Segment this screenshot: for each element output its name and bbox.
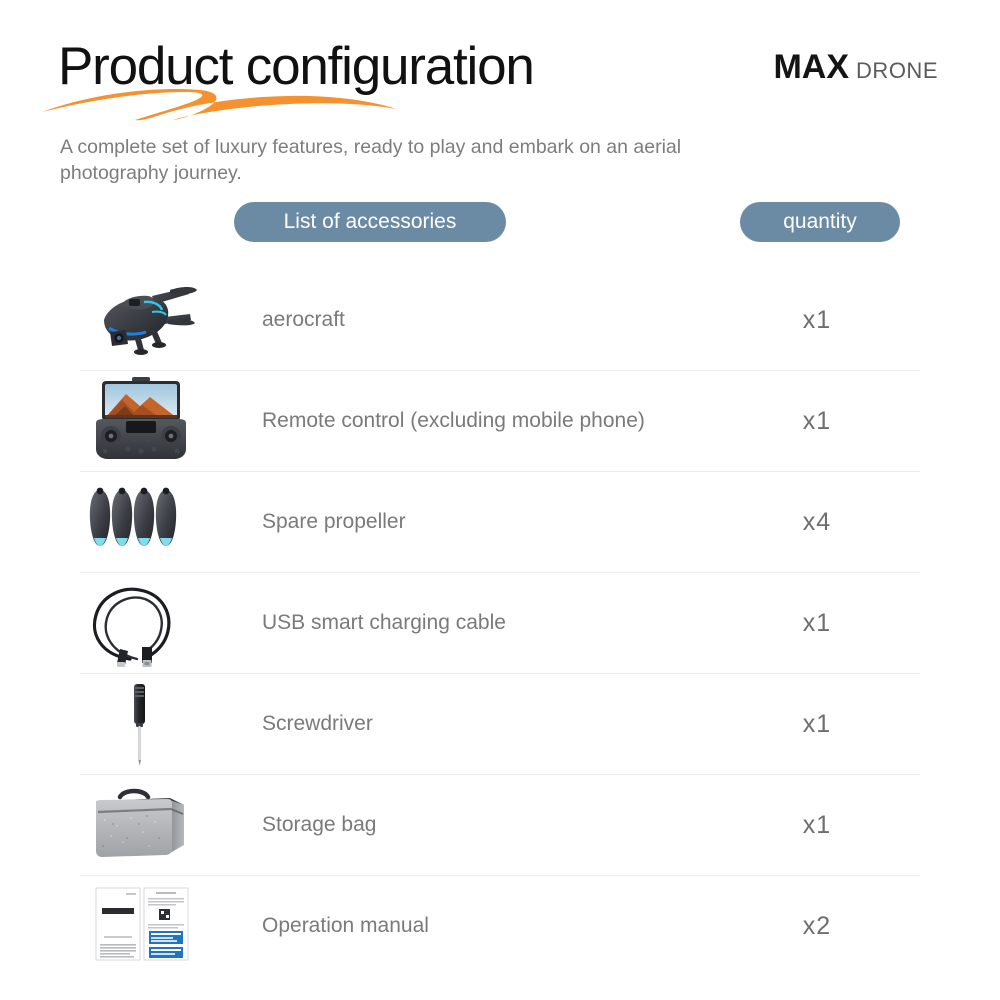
accessory-label: Remote control (excluding mobile phone) (202, 409, 742, 433)
accessory-quantity: x1 (742, 710, 920, 739)
logo-secondary-text: DRONE (856, 58, 938, 84)
table-row: Storage bag x1 (80, 775, 920, 876)
storage-bag-icon (82, 779, 202, 871)
accessory-quantity: x1 (742, 407, 920, 436)
column-header-accessories: List of accessories (234, 202, 506, 242)
propeller-icon (82, 476, 202, 568)
page-header: Product configuration MAX DRONE A comple… (0, 0, 1000, 200)
table-row: Operation manual x2 (80, 876, 920, 976)
page-subtitle: A complete set of luxury features, ready… (60, 134, 790, 186)
accessory-quantity: x4 (742, 508, 920, 537)
table-row: Screwdriver x1 (80, 674, 920, 775)
accessory-quantity: x1 (742, 811, 920, 840)
column-header-quantity: quantity (740, 202, 900, 242)
table-row: aerocraft x1 (80, 270, 920, 371)
usb-cable-icon (82, 577, 202, 669)
table-header: List of accessories quantity (0, 200, 1000, 262)
table-row: USB smart charging cable x1 (80, 573, 920, 674)
brand-logo: MAX DRONE (773, 48, 938, 87)
accessory-label: Storage bag (202, 813, 742, 837)
logo-primary-text: MAX (773, 48, 849, 87)
accessory-label: USB smart charging cable (202, 611, 742, 635)
accessory-quantity: x1 (742, 306, 920, 335)
accessory-label: Spare propeller (202, 510, 742, 534)
accessory-label: aerocraft (202, 308, 742, 332)
accessory-quantity: x2 (742, 912, 920, 941)
accessory-label: Screwdriver (202, 712, 742, 736)
remote-control-icon (82, 375, 202, 467)
drone-icon (82, 274, 202, 366)
accessory-quantity: x1 (742, 609, 920, 638)
manual-icon (82, 880, 202, 972)
table-row: Spare propeller x4 (80, 472, 920, 573)
accessories-list: aerocraft x1 (0, 270, 1000, 976)
page-title: Product configuration (58, 36, 534, 97)
screwdriver-icon (82, 678, 202, 770)
table-row: Remote control (excluding mobile phone) … (80, 371, 920, 472)
accessory-label: Operation manual (202, 914, 742, 938)
